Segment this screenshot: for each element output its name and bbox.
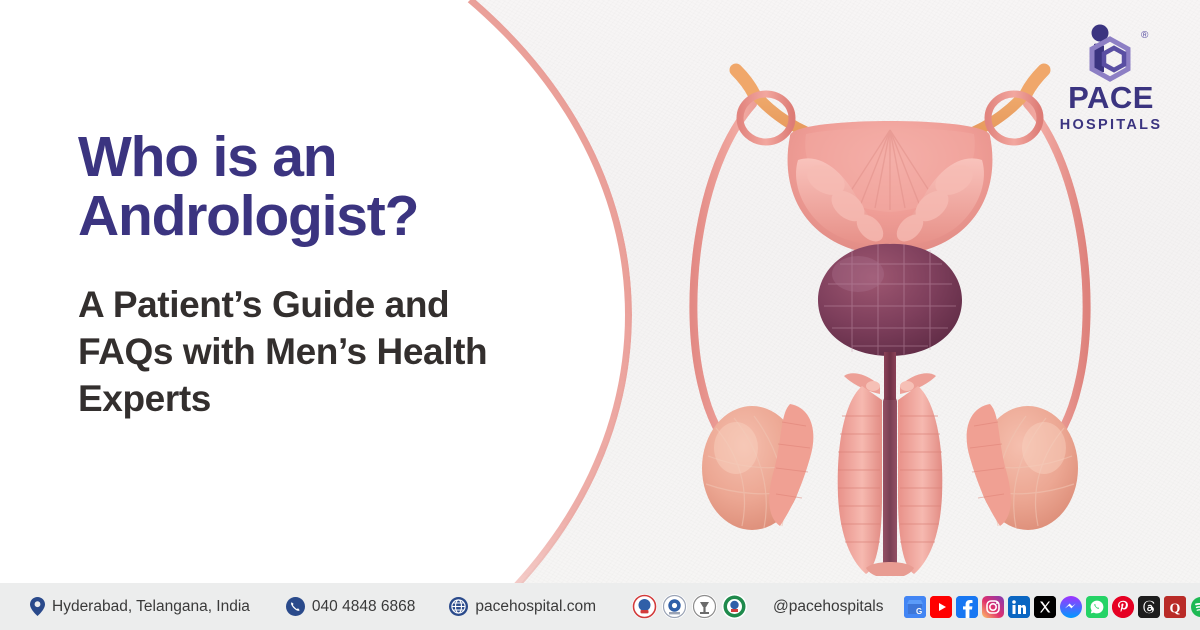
footer-location: Hyderabad, Telangana, India bbox=[30, 597, 250, 616]
quora-icon[interactable]: Q bbox=[1164, 596, 1186, 618]
footer-website-label: pacehospital.com bbox=[475, 599, 596, 615]
subtitle-line-2: FAQs with Men’s Health bbox=[78, 328, 638, 375]
instagram-icon[interactable] bbox=[982, 596, 1004, 618]
location-pin-icon bbox=[30, 597, 45, 616]
threads-icon[interactable] bbox=[1138, 596, 1160, 618]
google-business-icon[interactable]: G bbox=[904, 596, 926, 618]
male-reproductive-system-illustration bbox=[630, 56, 1150, 576]
footer-phone-label: 040 4848 6868 bbox=[312, 599, 415, 615]
accreditation-badge bbox=[692, 594, 717, 619]
accreditation-badges bbox=[632, 594, 747, 619]
footer-phone[interactable]: 040 4848 6868 bbox=[286, 597, 415, 616]
title-line-1: Who is an bbox=[78, 128, 638, 187]
globe-icon bbox=[449, 597, 468, 616]
spotify-icon[interactable] bbox=[1190, 596, 1200, 618]
youtube-icon[interactable] bbox=[930, 596, 952, 618]
accreditation-badge bbox=[722, 594, 747, 619]
social-handle: @pacehospitals bbox=[773, 598, 884, 616]
footer-location-label: Hyderabad, Telangana, India bbox=[52, 599, 250, 615]
page-subtitle: A Patient’s Guide and FAQs with Men’s He… bbox=[78, 281, 638, 423]
x-twitter-icon[interactable] bbox=[1034, 596, 1056, 618]
title-line-2: Andrologist? bbox=[78, 187, 638, 246]
accreditation-badge bbox=[662, 594, 687, 619]
messenger-icon[interactable] bbox=[1060, 596, 1082, 618]
whatsapp-icon[interactable] bbox=[1086, 596, 1108, 618]
phone-icon bbox=[286, 597, 305, 616]
social-icons-row: G bbox=[904, 596, 1200, 618]
page-title: Who is an Andrologist? bbox=[78, 128, 638, 247]
pinterest-icon[interactable] bbox=[1112, 596, 1134, 618]
svg-text:®: ® bbox=[1141, 30, 1149, 41]
svg-text:G: G bbox=[916, 607, 922, 616]
svg-text:Q: Q bbox=[1169, 601, 1180, 616]
poster-canvas: Who is an Andrologist? A Patient’s Guide… bbox=[0, 0, 1200, 630]
linkedin-icon[interactable] bbox=[1008, 596, 1030, 618]
subtitle-line-1: A Patient’s Guide and bbox=[78, 281, 638, 328]
footer-website[interactable]: pacehospital.com bbox=[449, 597, 596, 616]
headline-block: Who is an Andrologist? A Patient’s Guide… bbox=[78, 128, 638, 423]
facebook-icon[interactable] bbox=[956, 596, 978, 618]
subtitle-line-3: Experts bbox=[78, 375, 638, 422]
accreditation-badge bbox=[632, 594, 657, 619]
footer-bar: Hyderabad, Telangana, India 040 4848 686… bbox=[0, 583, 1200, 630]
